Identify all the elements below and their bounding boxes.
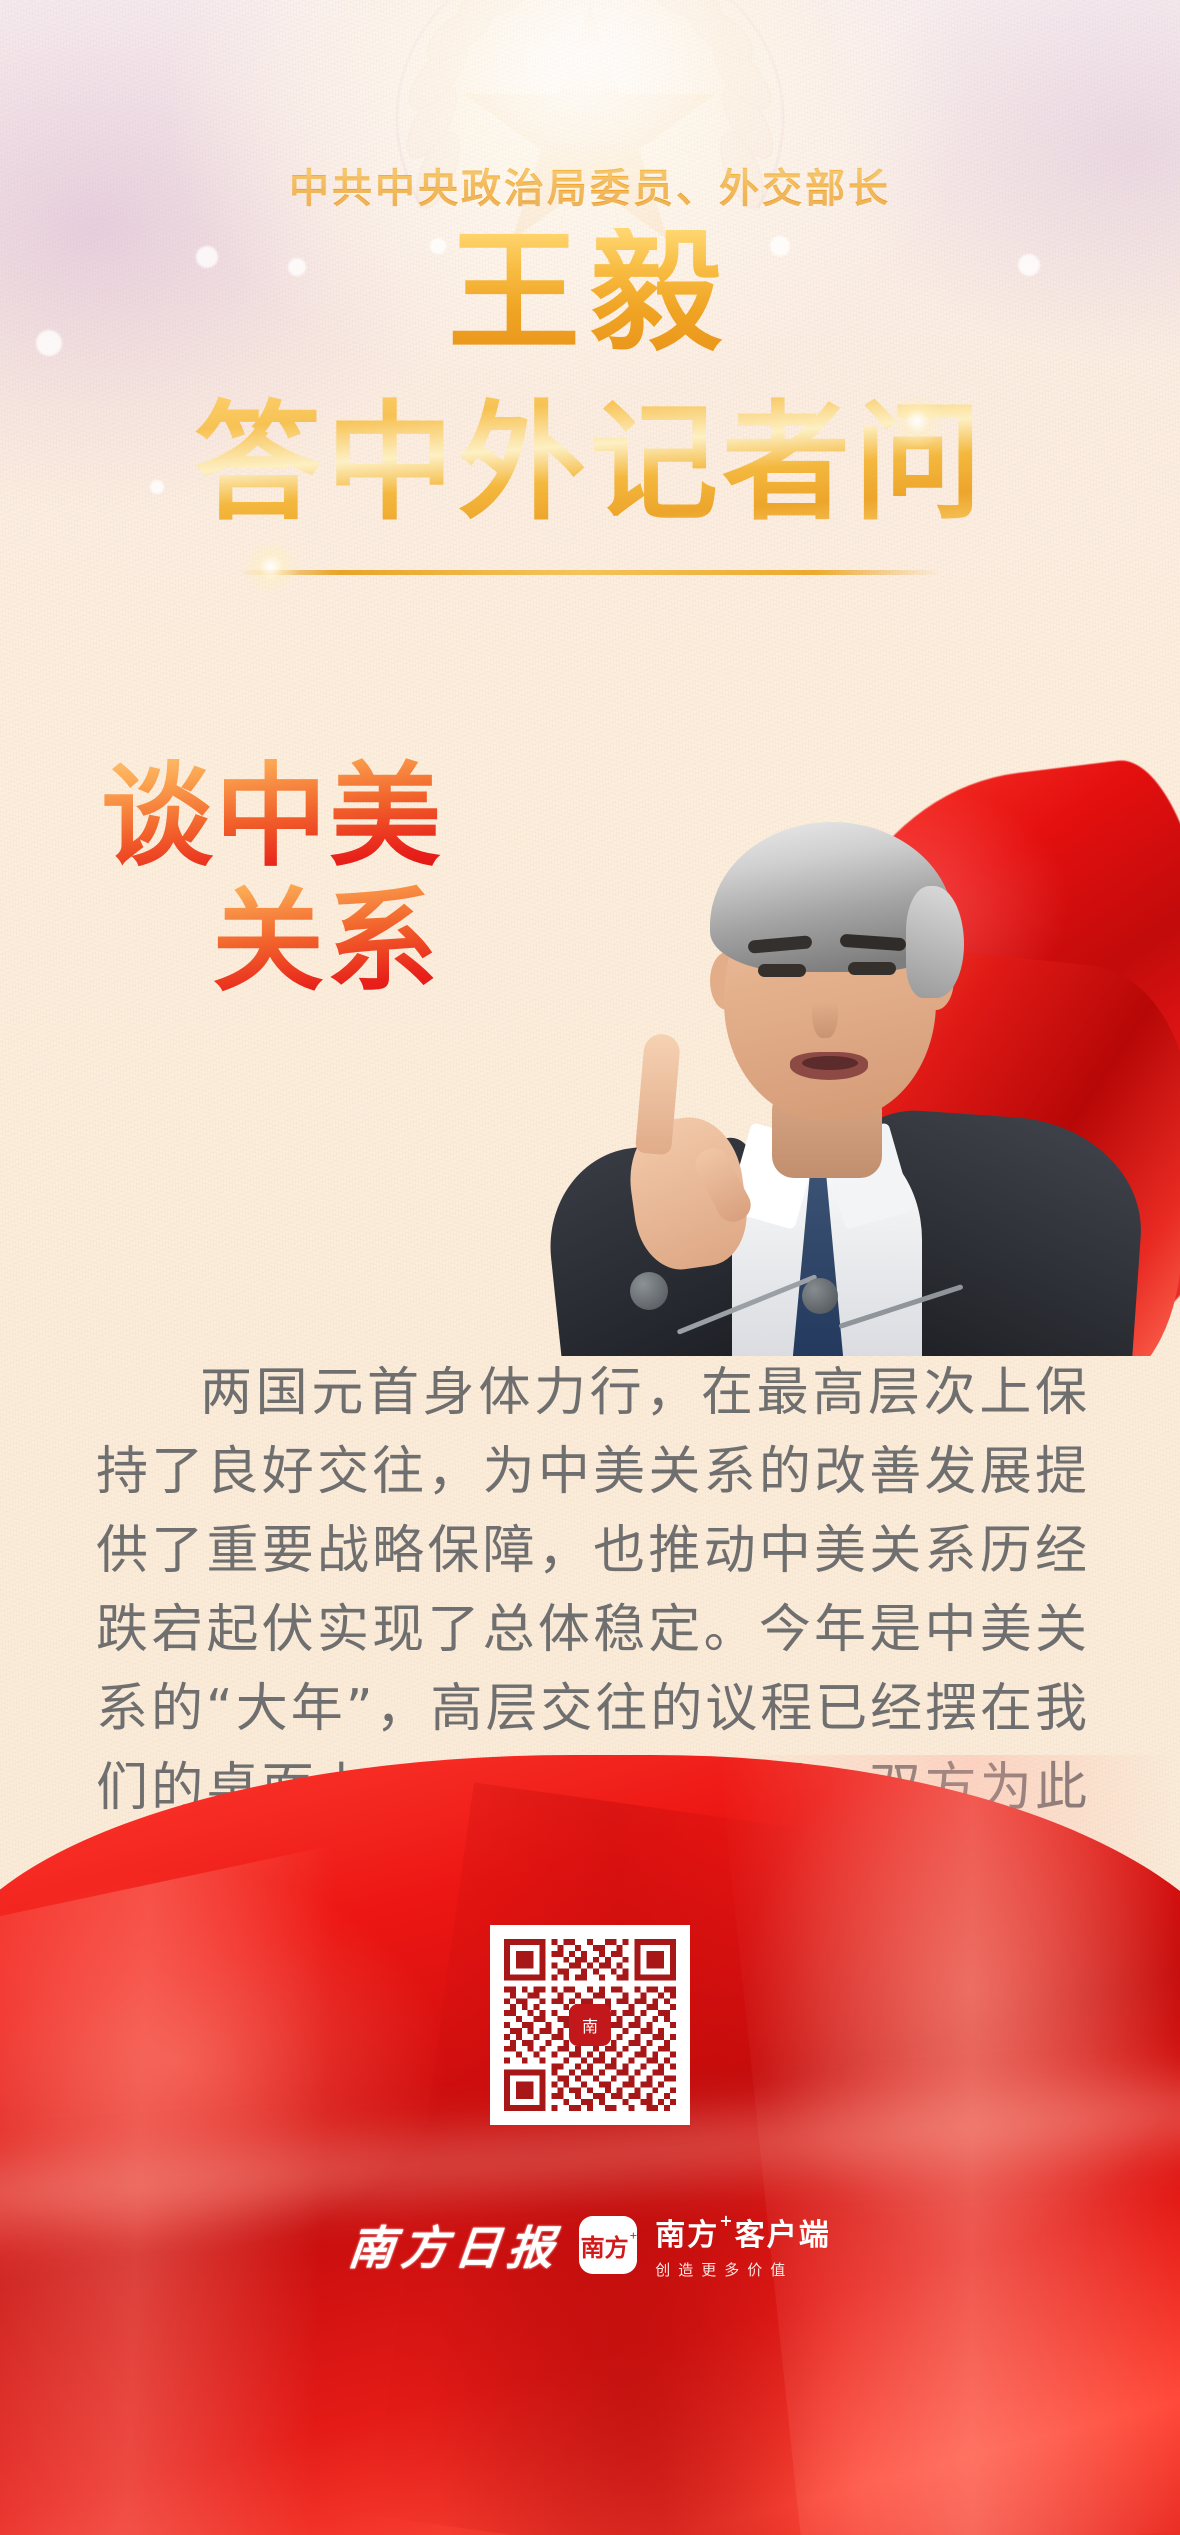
app-slogan: 创造更多价值 [655,2259,830,2280]
bottom-red-silk [0,1755,1180,2535]
mouth-inner [802,1056,858,1070]
eye-right [848,962,896,975]
app-icon-text: 南方 [581,2228,629,2263]
app-name-tail: 客户端 [735,2218,831,2253]
topic-title: 谈中美 关系 [62,756,482,1007]
app-meta: 南方+客户端 创造更多价值 [655,2210,830,2280]
microphone-head-right [802,1278,838,1314]
qr-center-logo: 南 [569,2004,611,2046]
app-name: 南方+客户端 [655,2210,830,2254]
speaker-figure [520,716,1180,1356]
eye-left [758,964,806,977]
hair-side [906,886,964,998]
speaker-photo [520,716,1180,1356]
poster-root: 中共中央政治局委员、外交部长 王毅 答中外记者问 谈中美 关系 [0,0,1180,2535]
page-kicker: 中共中央政治局委员、外交部长 [0,156,1180,214]
app-name-plus: + [719,2211,734,2230]
headline-container: 答中外记者问 [0,395,1180,533]
topic-line-2: 关系 [62,881,482,1006]
page-headline: 答中外记者问 [194,395,986,533]
footer-branding: 南方日报 南方+ 南方+客户端 创造更多价值 [0,2210,1180,2280]
app-name-main: 南方 [655,2218,719,2253]
newspaper-logo: 南方日报 [346,2212,565,2278]
page-title-name: 王毅 [0,228,1180,360]
microphone-head-left [630,1272,668,1310]
app-icon-plus: + [630,2228,637,2244]
qr-code[interactable]: 南 [490,1925,690,2125]
sparkle-icon [242,538,300,596]
topic-line-1: 谈中美 [62,756,482,881]
nanfang-plus-app-icon[interactable]: 南方+ [579,2216,637,2274]
headline-underline [240,570,940,575]
nose-shape [812,978,838,1038]
